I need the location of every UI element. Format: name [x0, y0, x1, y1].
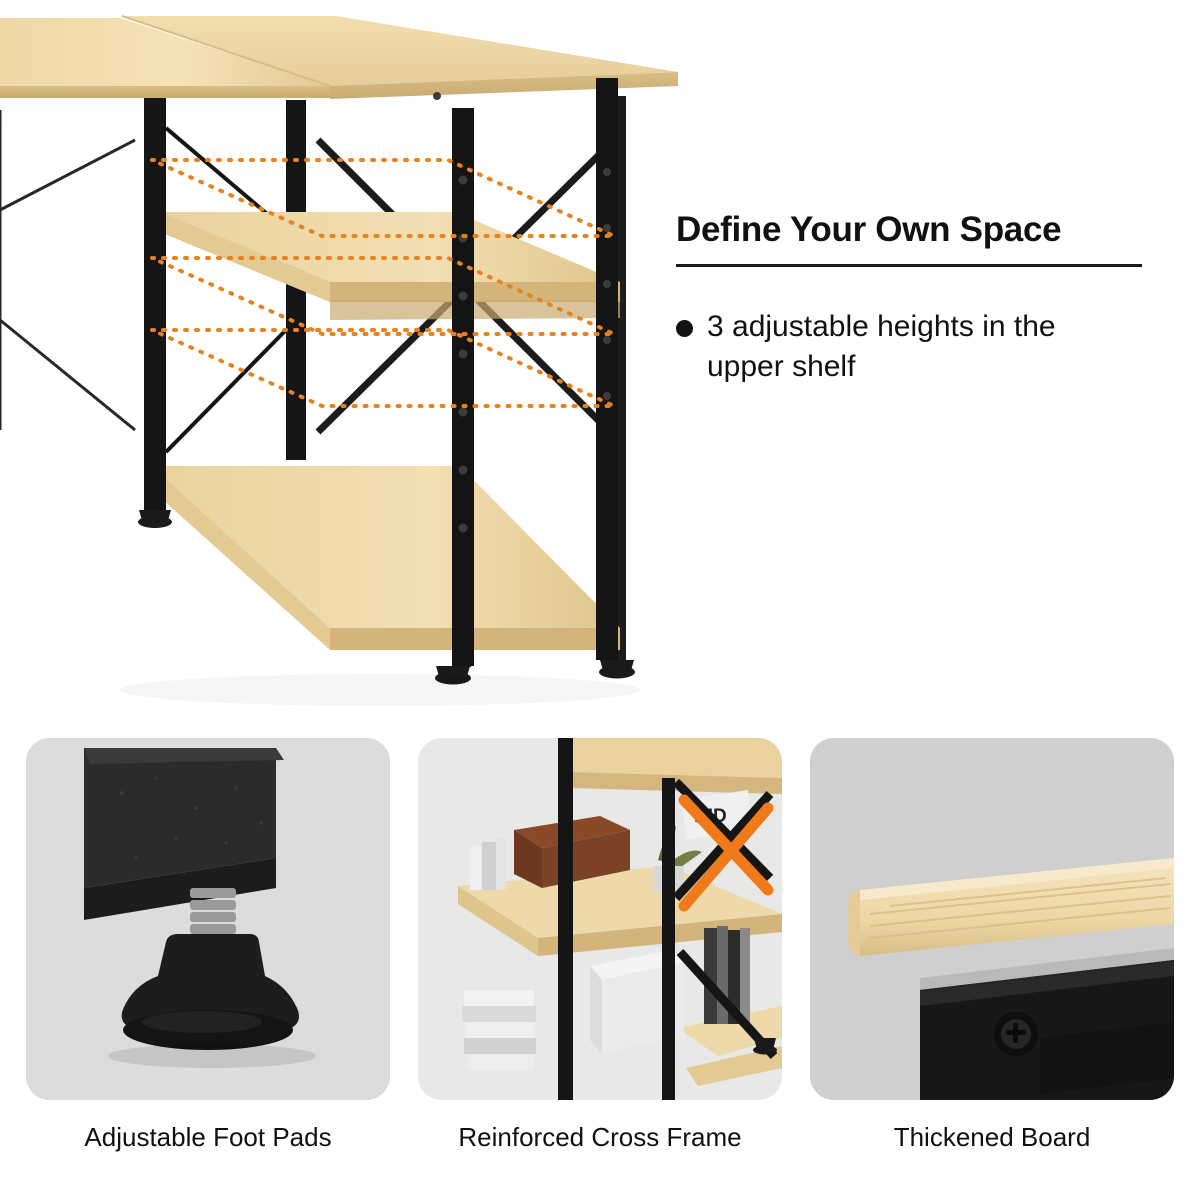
title-underline-divider [676, 264, 1142, 267]
feature-image-cross-frame: RID [418, 738, 782, 1100]
product-feature-infographic: Define Your Own Space 3 adjustable heigh… [0, 0, 1200, 1200]
feature-caption-thickened-board: Thickened Board [810, 1122, 1174, 1153]
hero-title: Define Your Own Space [676, 210, 1176, 250]
hero-text-block: Define Your Own Space 3 adjustable heigh… [676, 210, 1176, 387]
feature-card-cross-frame: RID [418, 738, 782, 1153]
bullet-dot-icon [676, 320, 693, 337]
feature-image-foot-pads [26, 738, 390, 1100]
feature-card-foot-pads: Adjustable Foot Pads [26, 738, 390, 1153]
hero-section: Define Your Own Space 3 adjustable heigh… [0, 0, 1200, 730]
feature-caption-cross-frame: Reinforced Cross Frame [418, 1122, 782, 1153]
feature-image-thickened-board [810, 738, 1174, 1100]
hero-bullet-row: 3 adjustable heights in the upper shelf [676, 307, 1176, 387]
feature-strip: Adjustable Foot Pads [0, 730, 1200, 1200]
feature-caption-foot-pads: Adjustable Foot Pads [26, 1122, 390, 1153]
feature-card-thickened-board: Thickened Board [810, 738, 1174, 1153]
hero-bullet-text: 3 adjustable heights in the upper shelf [707, 307, 1127, 387]
desk-product-image [0, 0, 680, 730]
